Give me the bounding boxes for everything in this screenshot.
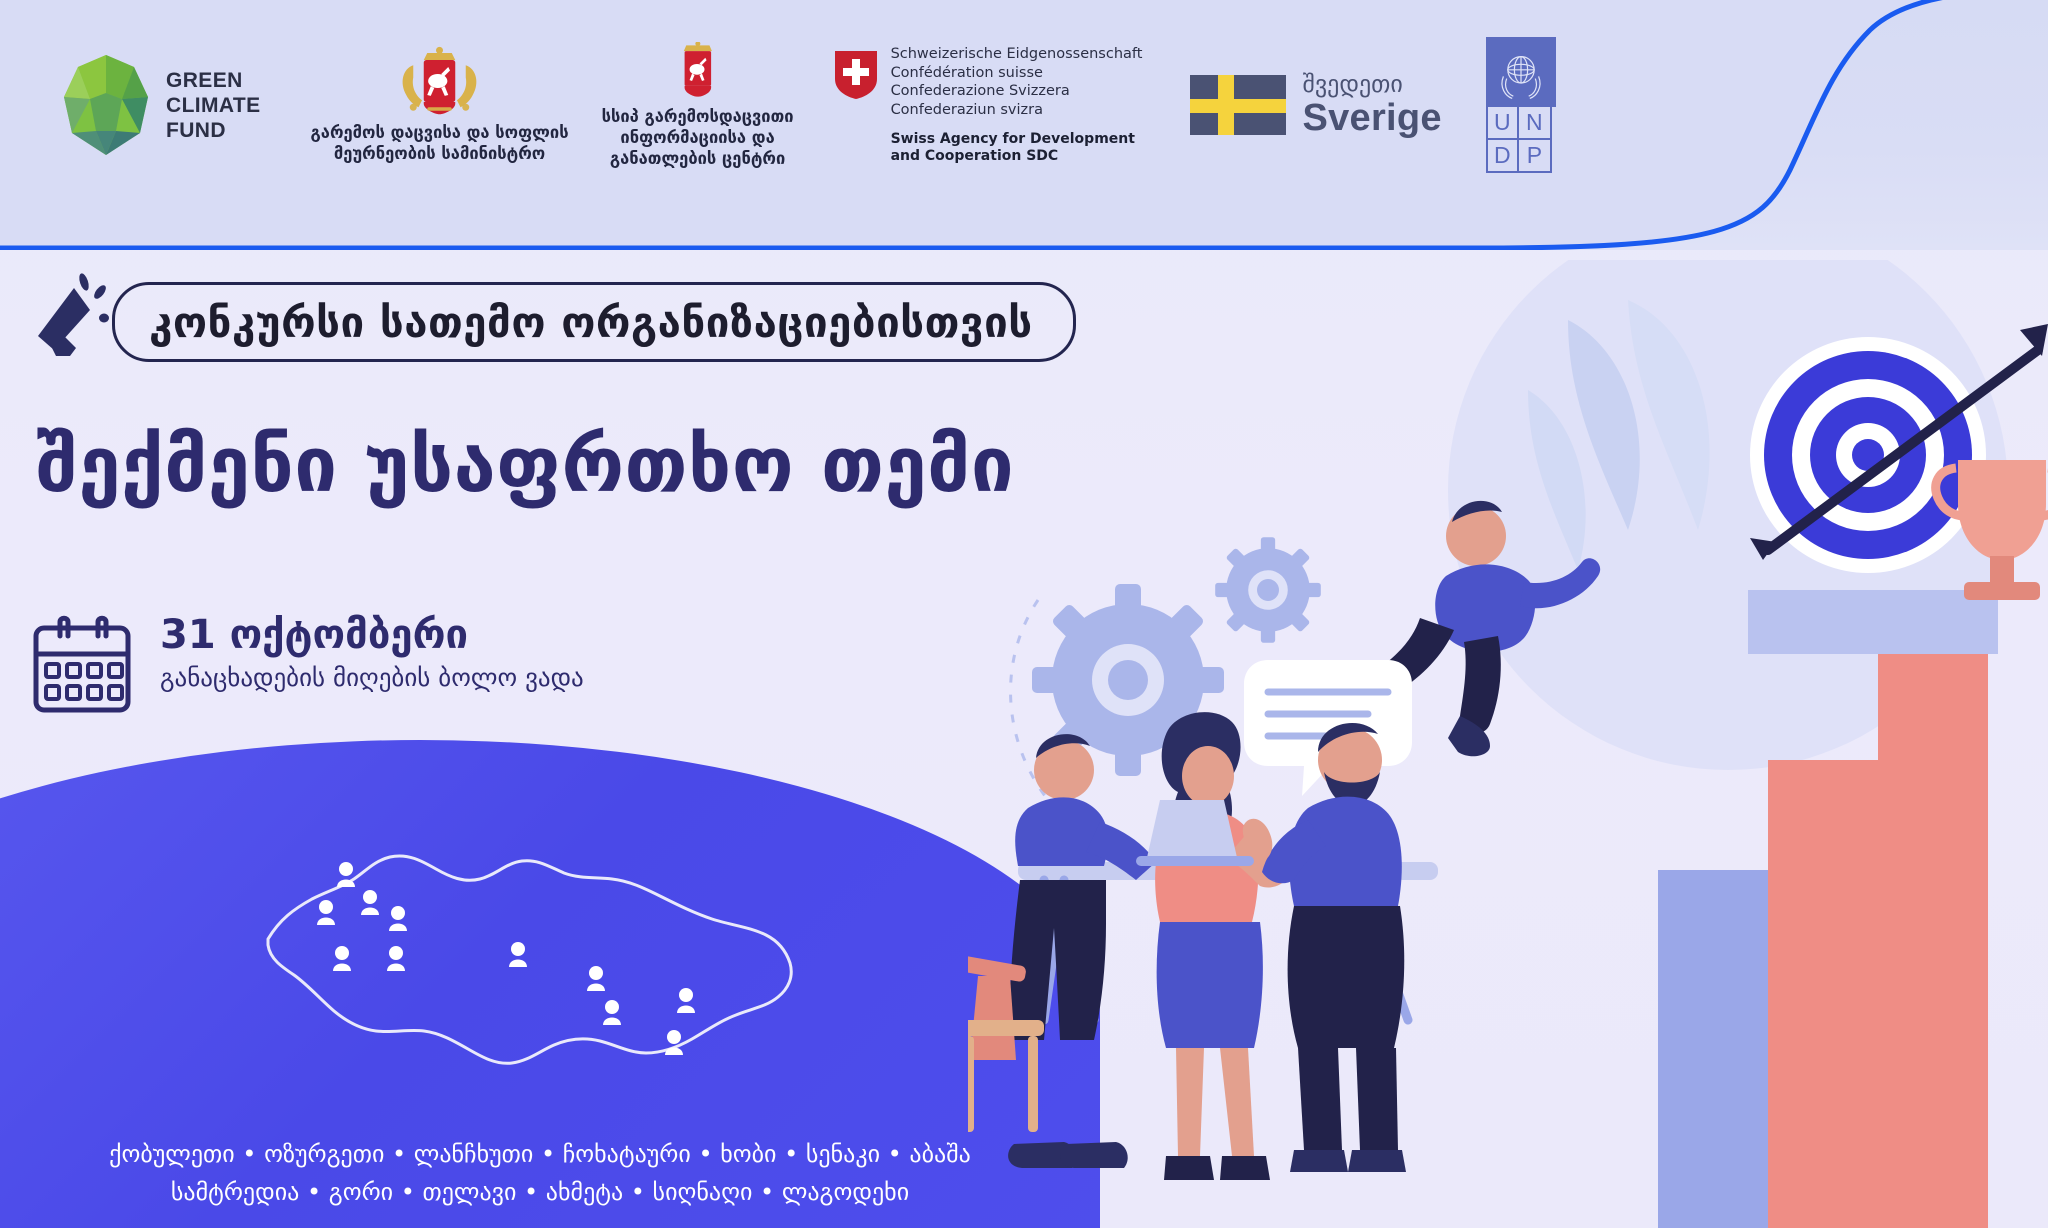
green-climate-fund-icon — [60, 53, 152, 157]
logo-undp: U N D P — [1486, 37, 1552, 173]
eiec-line-3: განათლების ცენტრი — [602, 148, 794, 169]
poster-canvas: GREEN CLIMATE FUND — [0, 0, 2048, 1228]
georgia-map — [250, 835, 810, 1095]
sdc-line-1: Swiss Agency for Development — [891, 131, 1143, 148]
logo-ministry-environment: გარემოს დაცვისა და სოფლის მეურნეობის სამ… — [309, 46, 571, 164]
eiec-line-2: ინფორმაციისა და — [602, 127, 794, 148]
sdc-agency-name: Swiss Agency for Development and Coopera… — [891, 131, 1143, 165]
sweden-name-en: Sverige — [1302, 97, 1441, 139]
sweden-name-ka: შვედეთი — [1302, 71, 1441, 97]
gcf-line-3: FUND — [166, 118, 261, 143]
map-marker-group — [317, 862, 695, 1055]
united-nations-emblem-icon — [1486, 37, 1556, 107]
swiss-line-it: Confederazione Svizzera — [891, 82, 1143, 101]
deadline-date: 31 ოქტომბერი — [160, 612, 584, 658]
announcement-banner-text: კონკურსი სათემო ორგანიზაციებისთვის — [149, 298, 1033, 347]
undp-mark: U N D P — [1486, 37, 1552, 173]
undp-letter-u: U — [1486, 107, 1519, 140]
sweden-flag-icon — [1190, 75, 1286, 135]
deadline-block: 31 ოქტომბერი განაცხადების მიღების ბოლო ვ… — [30, 612, 584, 716]
undp-letter-d: D — [1486, 140, 1519, 173]
sdc-line-2: and Cooperation SDC — [891, 148, 1143, 165]
swiss-confederation-names: Schweizerische Eidgenossenschaft Confédé… — [891, 45, 1143, 119]
swiss-shield-icon — [833, 49, 879, 101]
gcf-wordmark: GREEN CLIMATE FUND — [166, 68, 261, 143]
logo-green-climate-fund: GREEN CLIMATE FUND — [60, 53, 261, 157]
gcf-line-2: CLIMATE — [166, 93, 261, 118]
logo-environmental-info-centre: სსიპ გარემოსდაცვითი ინფორმაციისა და განა… — [593, 42, 803, 169]
undp-letters: U N D P — [1486, 107, 1552, 173]
eiec-name: სსიპ გარემოსდაცვითი ინფორმაციისა და განა… — [602, 106, 794, 169]
person-bearded-right — [1243, 723, 1406, 1172]
eiec-line-1: სსიპ გარემოსდაცვითი — [602, 106, 794, 127]
cities-list: ქობულეთი • ოზურგეთი • ლანჩხუთი • ჩოხატაუ… — [60, 1135, 1020, 1211]
announcement-banner: კონკურსი სათემო ორგანიზაციებისთვის — [112, 282, 1076, 362]
ministry-line-2: მეურნეობის სამინისტრო — [311, 143, 569, 164]
swiss-line-rm: Confederaziun svizra — [891, 101, 1143, 120]
swiss-line-de: Schweizerische Eidgenossenschaft — [891, 45, 1143, 64]
illustration-group — [968, 260, 2048, 1228]
swiss-line-fr: Confédération suisse — [891, 64, 1143, 83]
ministry-name: გარემოს დაცვისა და სოფლის მეურნეობის სამ… — [311, 122, 569, 164]
logo-header-bar: GREEN CLIMATE FUND — [0, 0, 2048, 250]
person-seated-left — [968, 734, 1156, 1168]
calendar-icon — [30, 612, 138, 716]
page-title: შექმენი უსაფრთხო თემი — [36, 420, 1014, 509]
logo-swiss-sdc: Schweizerische Eidgenossenschaft Confédé… — [833, 45, 1143, 165]
gcf-line-1: GREEN — [166, 68, 261, 93]
logo-sweden: შვედეთი Sverige — [1190, 71, 1441, 139]
ministry-line-1: გარემოს დაცვისა და სოფლის — [311, 122, 569, 143]
eiec-crest-icon — [673, 42, 723, 100]
undp-letter-n: N — [1519, 107, 1552, 140]
logo-row: GREEN CLIMATE FUND — [0, 0, 1600, 210]
undp-letter-p: P — [1519, 140, 1552, 173]
cities-line-1: ქობულეთი • ოზურგეთი • ლანჩხუთი • ჩოხატაუ… — [60, 1135, 1020, 1173]
georgia-coat-of-arms-icon — [387, 46, 492, 116]
cities-line-2: სამტრედია • გორი • თელავი • ახმეტა • სიღ… — [60, 1173, 1020, 1211]
deadline-note: განაცხადების მიღების ბოლო ვადა — [160, 662, 584, 694]
